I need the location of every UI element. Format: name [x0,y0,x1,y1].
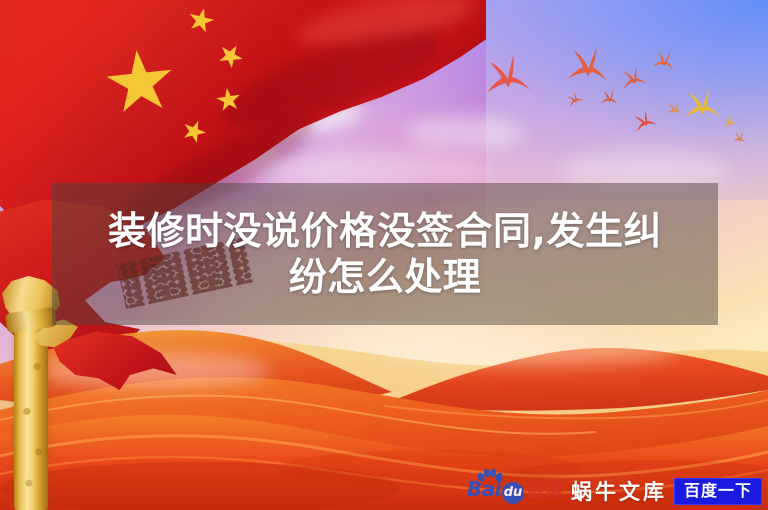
baidu-search-button[interactable]: 百度一下 [674,478,762,505]
baidu-logo-chinese: 百度 [526,481,564,500]
bird-icon [629,105,661,137]
watermark-brand-label: 蜗牛文库 [571,476,667,506]
bird-icon [562,39,616,93]
baidu-logo[interactable]: Bai du 百度 [467,479,564,503]
baidu-paw-icon [476,468,504,484]
bird-icon [482,50,534,102]
bird-icon [563,87,586,110]
bird-icon [619,63,650,94]
bird-icon [731,129,750,148]
page-title-line-1: 装修时没说价格没签合同,发生纠 [108,208,662,254]
bird-icon [681,83,726,128]
page-title: 装修时没说价格没签合同,发生纠 纷怎么处理 [98,208,672,301]
bird-icon [649,45,681,77]
bird-icon [598,86,621,109]
title-overlay-panel: 装修时没说价格没签合同,发生纠 纷怎么处理 [52,183,718,325]
baidu-logo-du-text: du [504,486,523,499]
watermark-bar: Bai du 百度 蜗牛文库 百度一下 [467,476,762,506]
page-title-line-2: 纷怎么处理 [108,254,662,300]
banner-image: 装修时没说价格没签合同,发生纠 纷怎么处理 Bai du 百度 蜗牛文库 百度一… [0,0,768,510]
baidu-logo-du-badge: du [502,482,524,504]
cloud [380,332,680,366]
flying-birds-group [470,42,768,172]
